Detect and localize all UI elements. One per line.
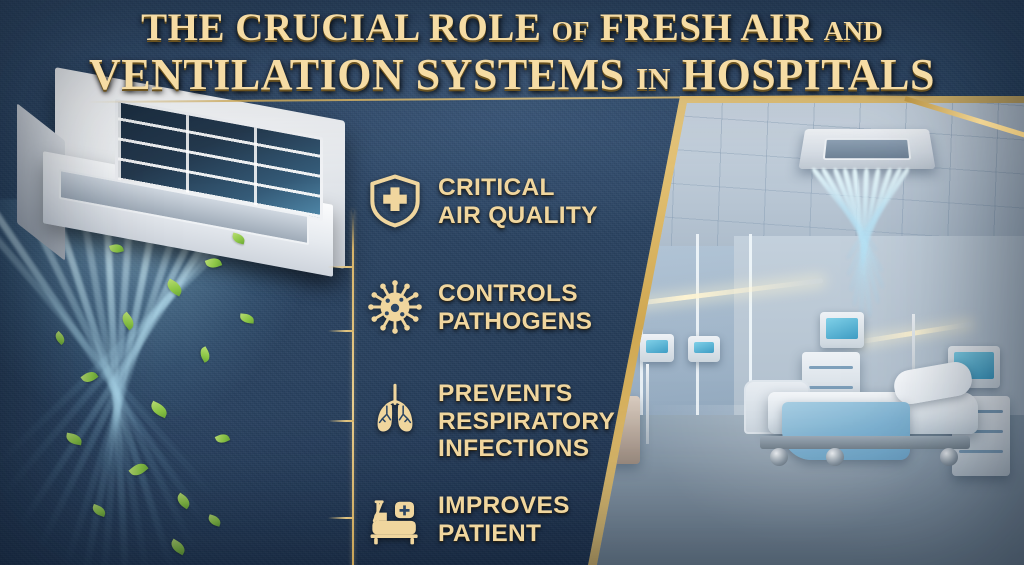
timeline-tick <box>328 517 354 519</box>
timeline-tick <box>328 266 354 268</box>
infographic-poster: THE CRUCIAL ROLE OF FRESH AIR AND VENTIL… <box>0 0 1024 565</box>
title-line-2: VENTILATION SYSTEMS IN HOSPITALS <box>0 47 1024 97</box>
timeline-tick <box>328 420 354 422</box>
lungs-icon <box>366 378 424 436</box>
benefit-item[interactable]: PREVENTS RESPIRATORY INFECTIONS <box>366 378 615 463</box>
hospital-bed <box>734 358 984 468</box>
benefit-label: CONTROLS PATHOGENS <box>438 278 592 335</box>
benefit-item[interactable]: CONTROLS PATHOGENS <box>366 278 592 336</box>
photo-content <box>584 96 1024 565</box>
hospital-bed-icon <box>366 490 424 548</box>
bed-blanket <box>782 402 910 460</box>
shield-cross-icon <box>366 172 424 230</box>
benefit-label: CRITICAL AIR QUALITY <box>438 172 598 229</box>
timeline-tick <box>328 330 354 332</box>
bed-wheel <box>826 448 844 466</box>
title-text-1: THE CRUCIAL ROLE <box>141 6 541 49</box>
benefits-list: CRITICAL AIR QUALITYCONTROLS PATHOGENSPR… <box>352 150 622 565</box>
benefit-item[interactable]: CRITICAL AIR QUALITY <box>366 172 598 230</box>
virus-pathogen-icon <box>366 278 424 336</box>
ceiling-cassette-ac-icon <box>798 129 935 169</box>
benefit-item[interactable]: IMPROVES PATIENT <box>366 490 570 548</box>
patient-monitor-3 <box>688 336 720 362</box>
title-word-of: OF <box>552 16 590 46</box>
title-word-in: IN <box>636 62 670 96</box>
room-ceiling <box>584 96 1024 246</box>
title-text-4: HOSPITALS <box>682 50 935 99</box>
poster-title: THE CRUCIAL ROLE OF FRESH AIR AND VENTIL… <box>0 0 1024 104</box>
benefit-label: PREVENTS RESPIRATORY INFECTIONS <box>438 378 615 463</box>
bed-wheel <box>770 448 788 466</box>
ceiling-air-conditioner-airflow-illustration <box>0 104 350 565</box>
title-line-1: THE CRUCIAL ROLE OF FRESH AIR AND <box>0 3 1024 47</box>
hospital-room-ventilation-photo <box>584 96 1024 565</box>
patient-monitor-2 <box>640 334 674 362</box>
timeline-spine <box>352 210 354 565</box>
bed-wheel <box>940 448 958 466</box>
iv-pole-2 <box>646 364 649 444</box>
bed-base <box>760 436 970 449</box>
title-word-and: AND <box>824 16 883 46</box>
patient-monitor <box>820 312 864 348</box>
benefit-label: IMPROVES PATIENT <box>438 490 570 547</box>
title-text-3: VENTILATION SYSTEMS <box>89 50 625 99</box>
title-text-2: FRESH AIR <box>600 6 814 49</box>
